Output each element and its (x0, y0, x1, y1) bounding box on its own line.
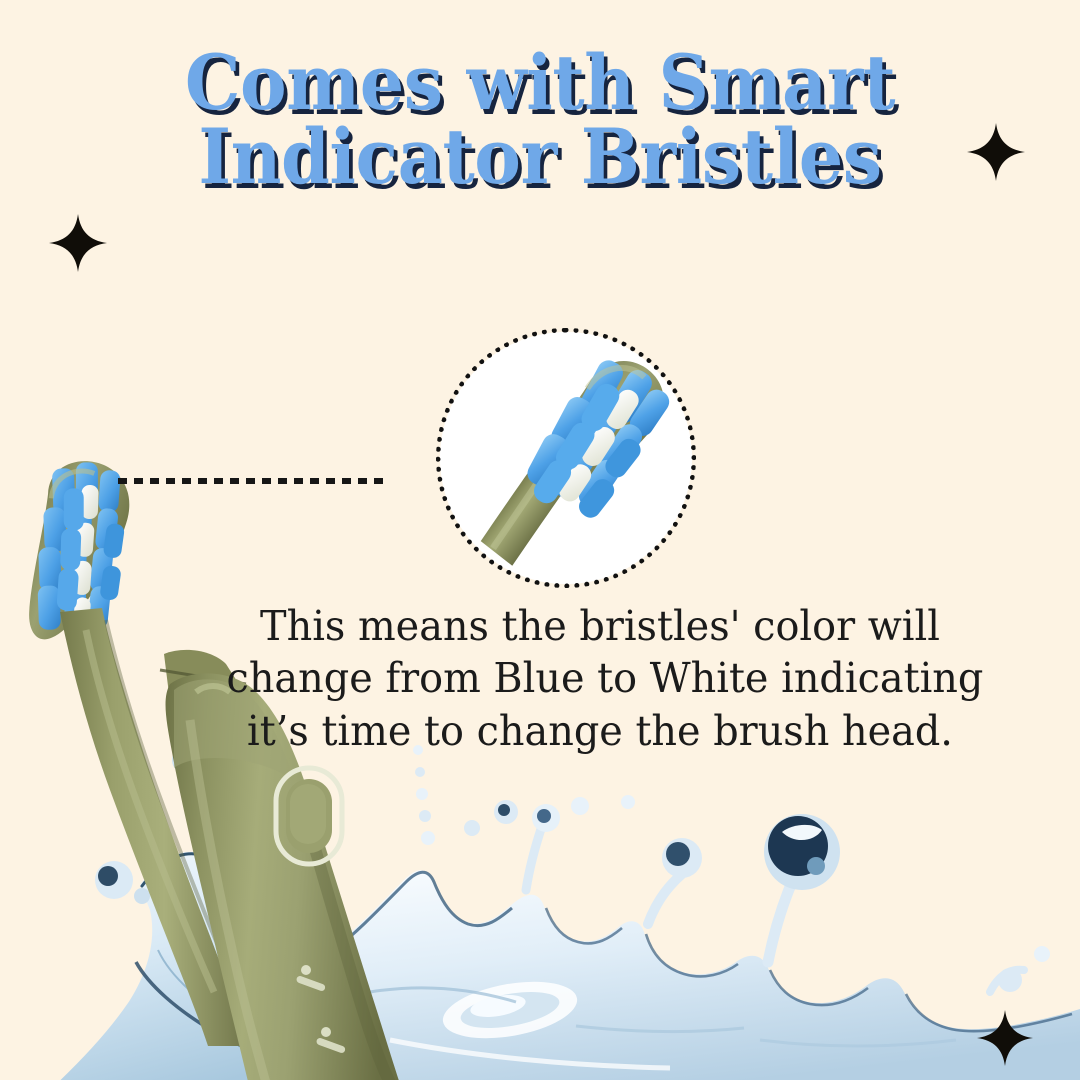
magnifier-dotted-ring (436, 328, 696, 588)
description-text: This means the bristles' color will chan… (227, 600, 974, 757)
description-line-3: it’s time to change the brush head. (227, 705, 974, 757)
headline-line-2: Indicator Bristles (43, 120, 1037, 194)
magnifier-circle-icon (440, 332, 692, 584)
description-line-2: change from Blue to White indicating (227, 652, 974, 704)
headline-line-1: Comes with Smart (43, 46, 1037, 120)
sparkle-left (49, 214, 107, 272)
dashed-leader-line (118, 478, 390, 484)
poster-canvas: Comes with Smart Indicator Bristles (0, 0, 1080, 1080)
sparkle-bottom-right (977, 1010, 1033, 1066)
description-line-1: This means the bristles' color will (227, 600, 974, 652)
page-title: Comes with Smart Indicator Bristles (43, 46, 1037, 195)
